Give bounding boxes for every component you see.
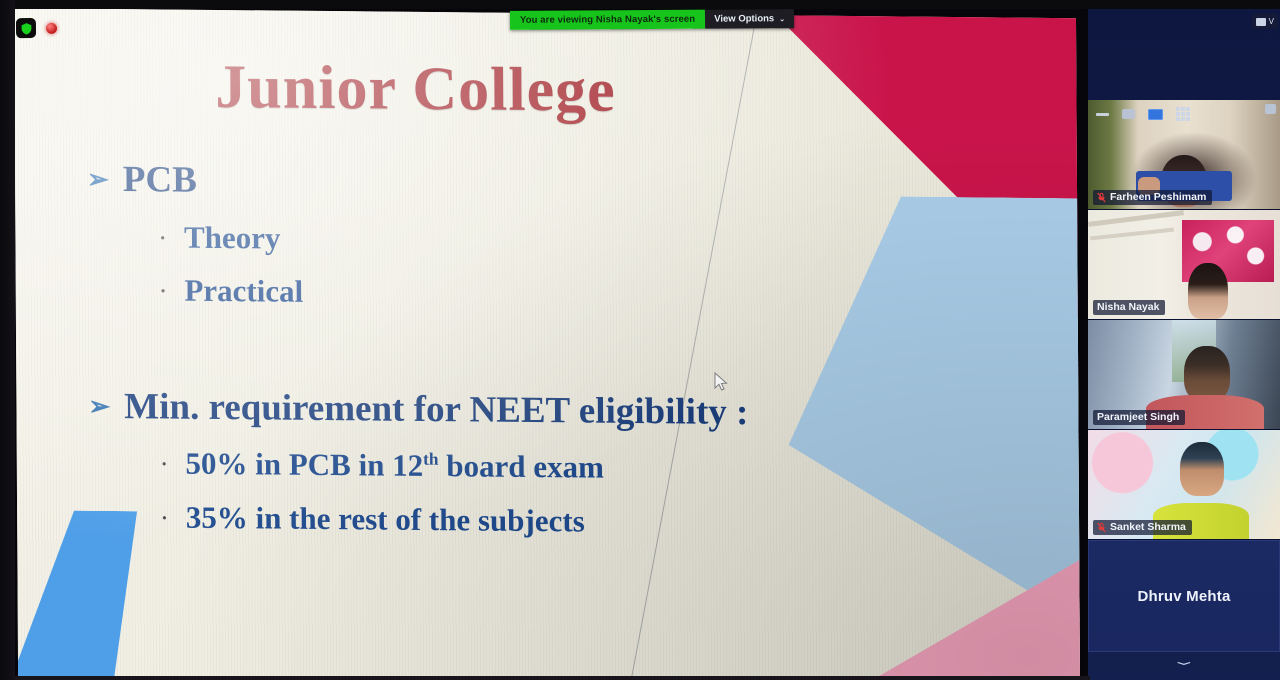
participant-name: Sanket Sharma [1110,521,1186,533]
photo-frame-left [0,0,15,680]
shield-icon[interactable] [16,18,36,38]
dot-bullet-icon: · [159,218,166,248]
grid-view-icon[interactable] [1176,107,1190,121]
window-icon [1256,18,1266,26]
chevron-down-icon[interactable]: ⟩ [1176,568,1193,680]
view-options-button[interactable]: View Options ⌄ [705,9,794,29]
bullet-rest-subjects: · 35% in the rest of the subjects [161,498,869,542]
pcb-pct-post: board exam [438,449,604,486]
bullet-pcb-label: PCB [123,159,197,202]
top-right-button-label: V [1269,17,1274,26]
bullet-neet-eligibility-label: Min. requirement for NEET eligibility : [124,386,748,435]
dot-bullet-icon: · [161,445,168,475]
shared-screen-slide: Junior College ➢ PCB · Theory · Practica… [14,8,1080,680]
arrow-bullet-icon: ➢ [87,159,109,193]
monitor-photo: Junior College ➢ PCB · Theory · Practica… [0,0,1280,680]
mic-muted-icon [1097,522,1106,533]
bullet-practical: · Practical [160,271,868,315]
participant-name-badge: Nisha Nayak [1093,300,1165,315]
more-view-icon[interactable] [1265,104,1276,114]
pcb-pct-sup: th [423,450,439,469]
bullet-practical-label: Practical [184,271,303,309]
pcb-pct-pre: 50% in PCB in 12 [185,446,423,483]
single-view-icon[interactable] [1122,109,1135,119]
participant-name-badge: Sanket Sharma [1093,520,1192,535]
screen-share-status-bar: You are viewing Nisha Nayak's screen Vie… [510,9,794,30]
participants-sidebar: Farheen Peshimam Nisha Nayak [1088,0,1280,680]
bullet-theory-label: Theory [184,218,281,256]
slide-bullet-list: ➢ PCB · Theory · Practical ➢ Min. requir… [87,159,869,556]
speaker-view-icon[interactable] [1148,109,1163,120]
participant-name-badge: Farheen Peshimam [1093,190,1212,205]
top-left-indicators [16,18,57,38]
chevron-down-icon: ⌄ [779,15,785,23]
participant-tile-nisha[interactable]: Nisha Nayak [1088,210,1280,320]
participant-name: Paramjeet Singh [1097,411,1179,423]
bullet-rest-subjects-label: 35% in the rest of the subjects [186,498,585,539]
bullet-pcb-percentage-label: 50% in PCB in 12th board exam [185,445,604,486]
photo-frame-top [0,0,1280,9]
participant-name: Nisha Nayak [1097,301,1159,313]
photo-frame-bottom [0,676,1090,680]
recording-dot-icon[interactable] [46,22,57,33]
bullet-spacer [88,322,868,393]
viewing-screen-banner: You are viewing Nisha Nayak's screen [510,10,705,30]
view-mode-toolbar [1096,104,1278,124]
view-options-label: View Options [714,13,774,24]
screenshot-root: Junior College ➢ PCB · Theory · Practica… [0,0,1280,680]
slide-title: Junior College [14,50,816,129]
bullet-neet-eligibility: ➢ Min. requirement for NEET eligibility … [88,386,868,436]
minimize-icon[interactable] [1096,113,1109,116]
bullet-pcb-percentage: · 50% in PCB in 12th board exam [161,445,869,489]
bullet-theory: · Theory [159,218,867,262]
participant-name-badge: Paramjeet Singh [1093,410,1185,425]
bullet-pcb: ➢ PCB [87,159,867,209]
dot-bullet-icon: · [160,271,167,301]
mic-muted-icon [1097,192,1106,203]
participant-name: Farheen Peshimam [1110,191,1206,203]
dot-bullet-icon: · [161,498,168,528]
arrow-bullet-icon: ➢ [88,386,110,420]
participant-tile-sanket[interactable]: Sanket Sharma [1088,430,1280,540]
top-right-window-button[interactable]: V [1252,14,1278,29]
participant-tile-paramjeet[interactable]: Paramjeet Singh [1088,320,1280,430]
